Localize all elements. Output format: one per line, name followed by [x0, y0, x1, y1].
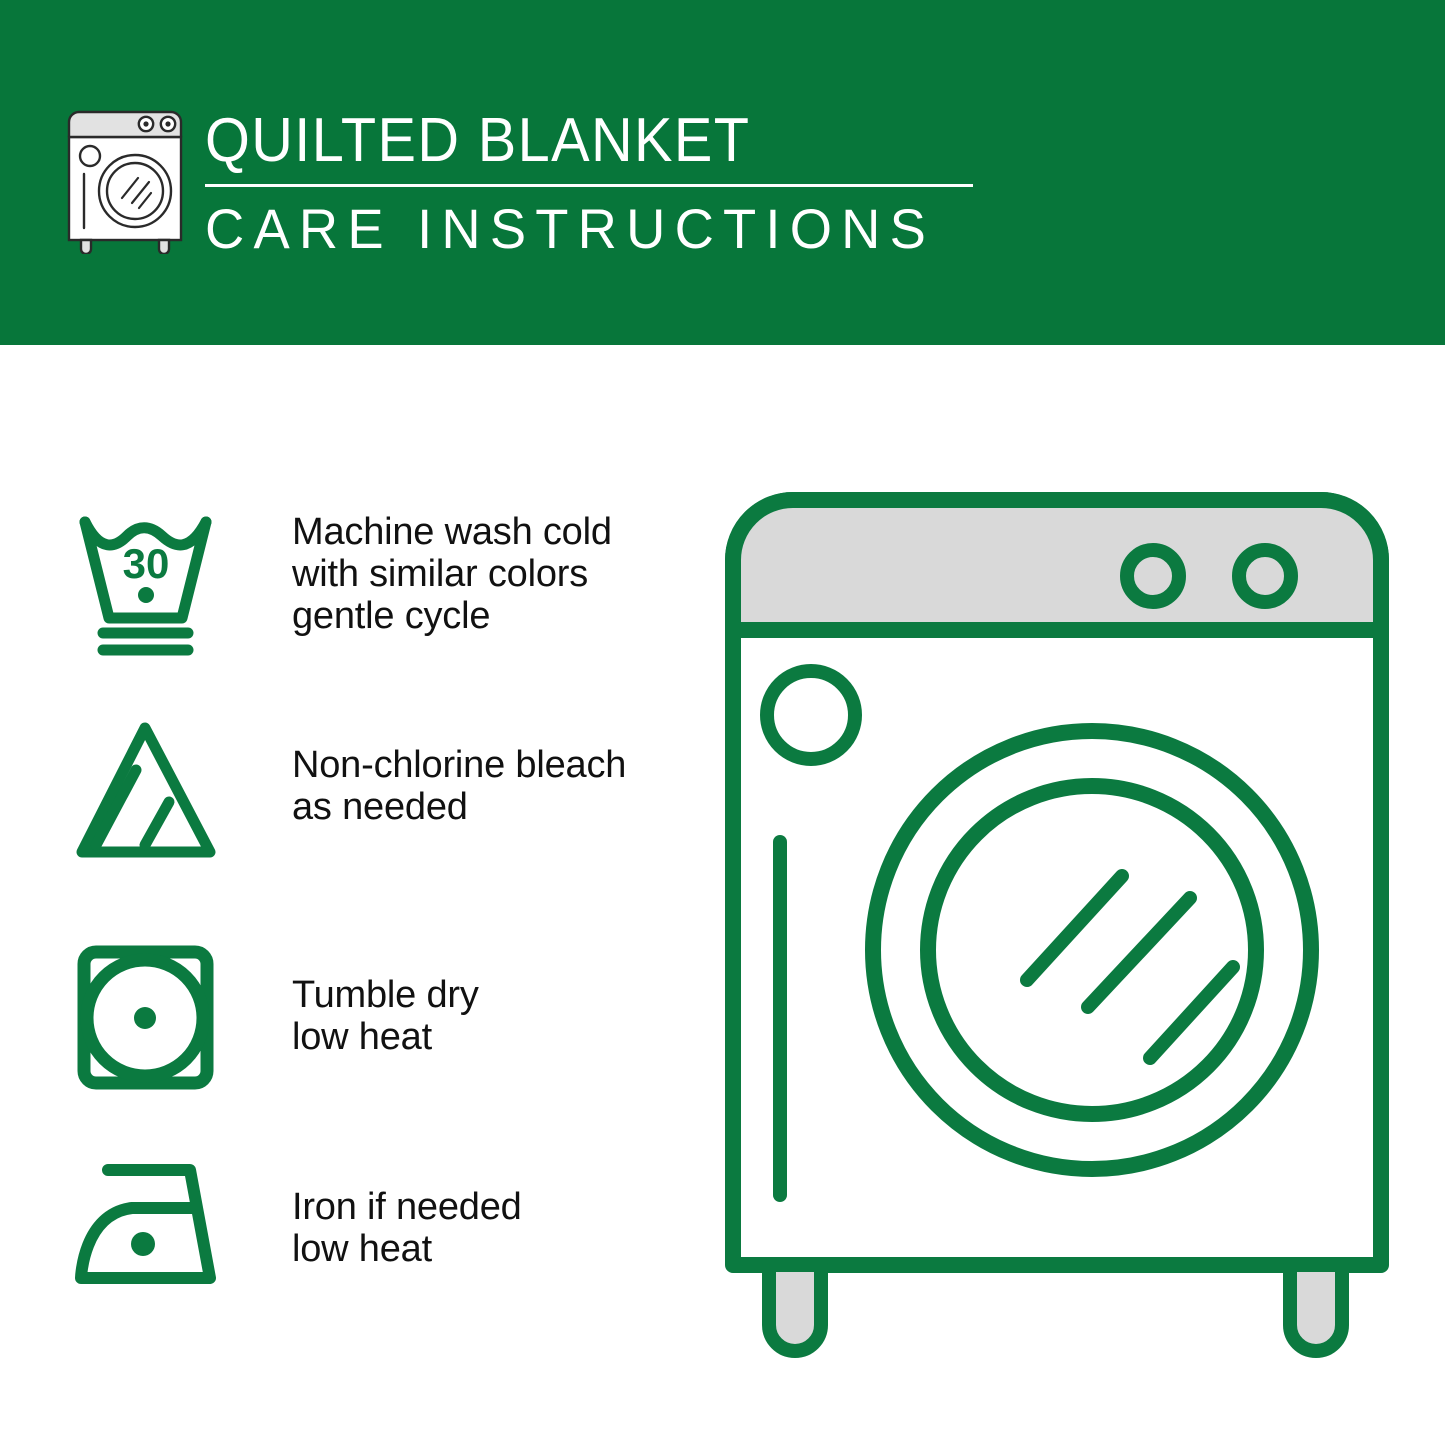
leg-right [1290, 1265, 1342, 1351]
wash-tub-icon: 30 [70, 500, 230, 660]
care-label-bleach: Non-chlorine bleach as needed [292, 744, 626, 828]
care-label-iron: Iron if needed low heat [292, 1186, 522, 1270]
leg-left [769, 1265, 821, 1351]
page-title-secondary: CARE INSTRUCTIONS [205, 197, 971, 261]
title-divider [205, 184, 973, 187]
iron-icon [70, 1152, 230, 1312]
page-title-primary: QUILTED BLANKET [205, 104, 940, 178]
care-instructions-graphic: QUILTED BLANKET CARE INSTRUCTIONS 30 Mac… [0, 0, 1445, 1445]
washing-machine-logo-icon [63, 104, 189, 254]
washing-machine-illustration [712, 480, 1402, 1370]
care-label-dry: Tumble dry low heat [292, 974, 479, 1058]
care-label-wash: Machine wash cold with similar colors ge… [292, 511, 612, 637]
header-titles: QUILTED BLANKET CARE INSTRUCTIONS [205, 104, 995, 259]
bleach-triangle-icon [70, 712, 230, 872]
header-band: QUILTED BLANKET CARE INSTRUCTIONS [0, 0, 1445, 345]
wash-temperature-label: 30 [123, 540, 170, 587]
tumble-dry-icon [70, 940, 230, 1100]
